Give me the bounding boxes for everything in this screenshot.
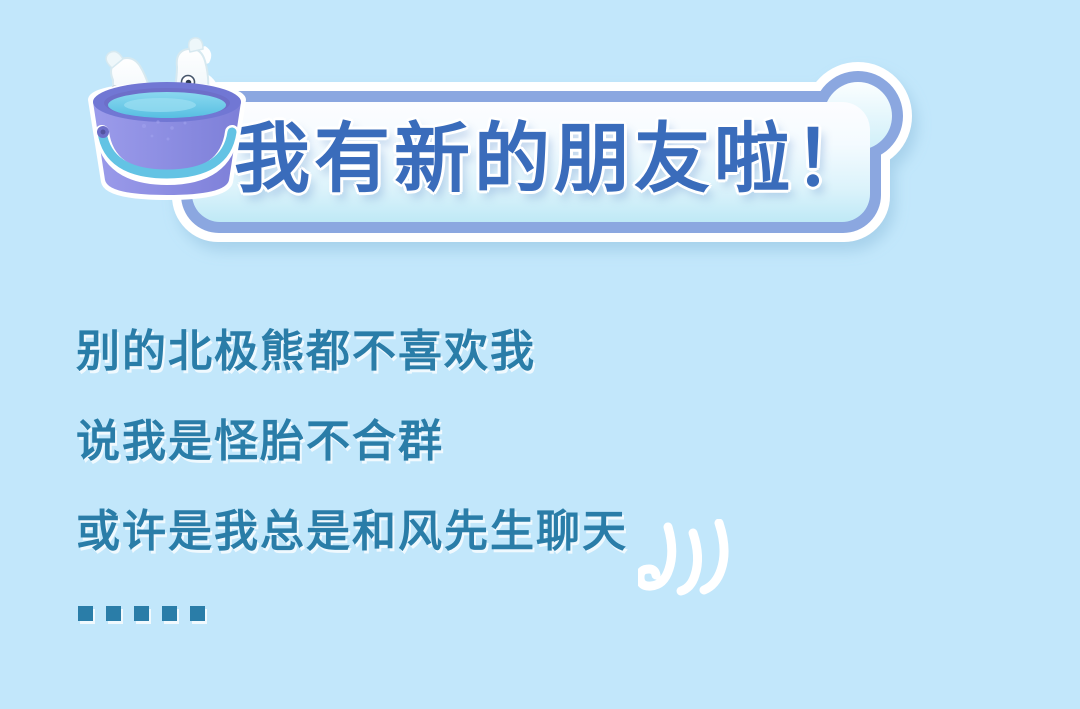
ellipsis-dot	[106, 606, 121, 621]
ellipsis-dot	[162, 606, 177, 621]
copy-line-1: 别的北极熊都不喜欢我	[76, 330, 1016, 374]
ellipsis-dot	[190, 606, 205, 621]
ellipsis-dot	[134, 606, 149, 621]
poster-canvas: 我有新的朋友啦！	[0, 0, 1080, 709]
page-title: 我有新的朋友啦！	[234, 99, 854, 219]
bucket-with-two-fish-illustration	[72, 22, 262, 207]
copy-line-3-row: 或许是我总是和风先生聊天	[76, 510, 1016, 606]
body-copy: 别的北极熊都不喜欢我 说我是怪胎不合群 或许是我总是和风先生聊天	[76, 330, 1016, 621]
title-banner: 我有新的朋友啦！	[172, 72, 932, 247]
ellipsis-dot	[78, 606, 93, 621]
ellipsis	[76, 606, 1016, 621]
copy-line-3: 或许是我总是和风先生聊天	[76, 510, 628, 554]
wind-marks-icon	[638, 519, 730, 597]
header-area: 我有新的朋友啦！	[0, 0, 1080, 280]
copy-line-2: 说我是怪胎不合群	[76, 420, 1016, 464]
